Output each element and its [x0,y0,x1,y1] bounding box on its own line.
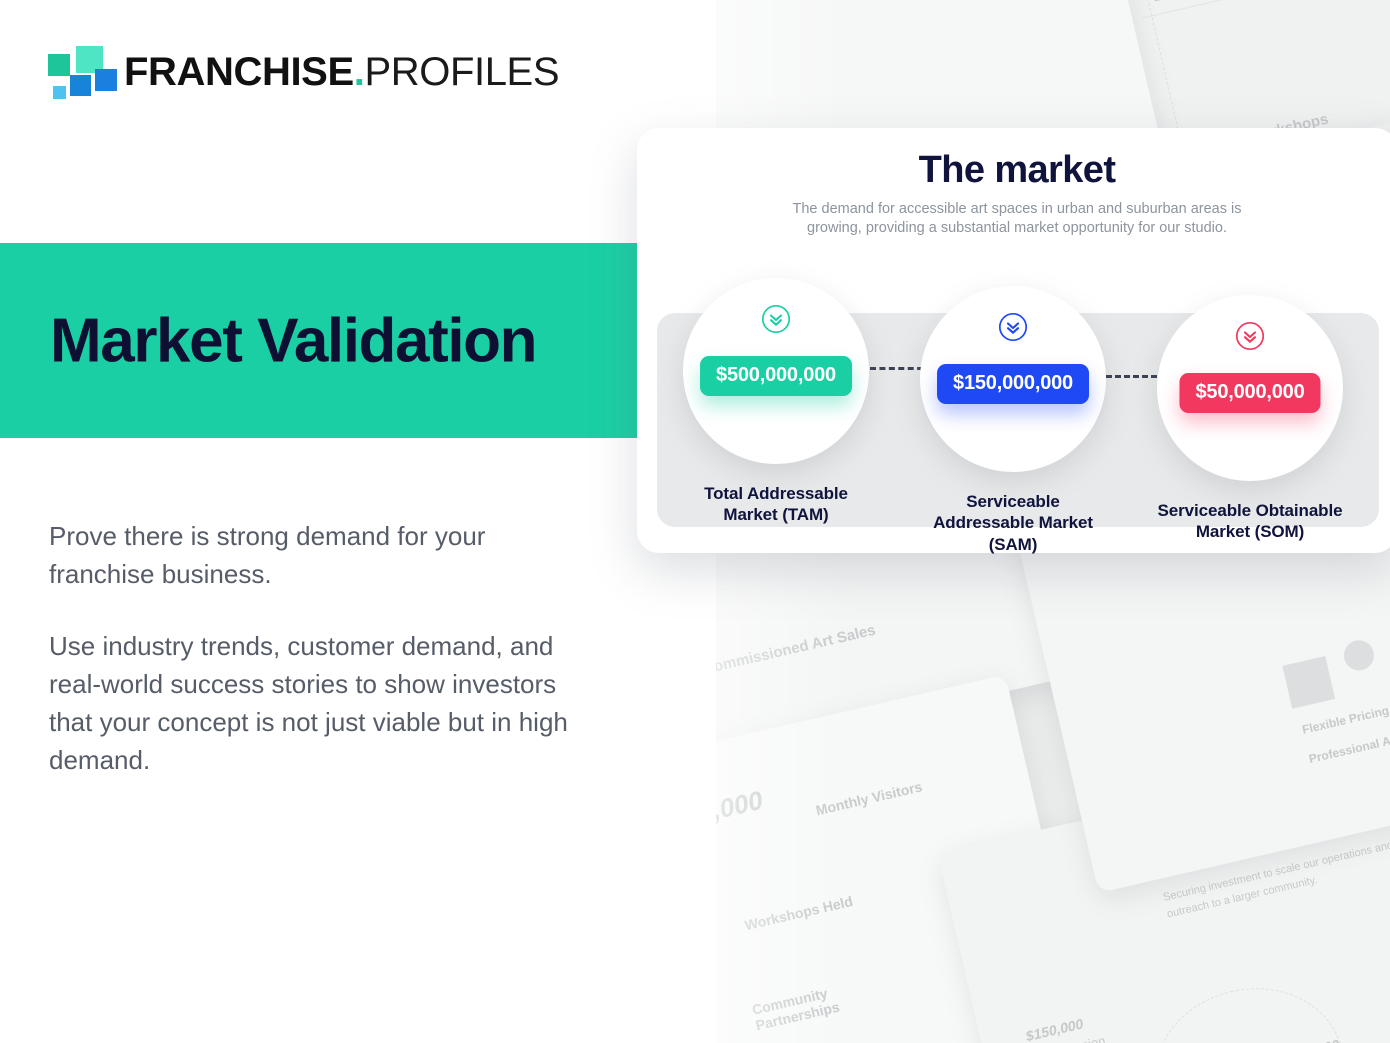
tier-label-tam: Total Addressable Market (TAM) [683,483,869,526]
bg-coin-icon [1341,637,1377,673]
logo-square-5 [53,86,66,99]
logo-square-4 [95,69,117,91]
body-copy: Prove there is strong demand for your fr… [49,518,589,780]
logo-word-bold: FRANCHISE [124,50,354,94]
page-title: Market Validation [50,305,536,376]
bg-revenue2-item-2: Commissioned Art Sales [716,622,877,678]
logo-square-3 [70,75,91,96]
body-paragraph-2: Use industry trends, customer demand, an… [49,628,589,780]
market-card-title: The market [637,149,1390,192]
logo-word-dot: . [354,50,365,94]
market-tier-som[interactable]: $50,000,000 Serviceable Obtainable Marke… [1157,295,1343,543]
logo-wordmark: FRANCHISE.PROFILES [124,52,559,92]
bg-traction-number-0: 1,000 [716,785,766,830]
tier-label-sam: Serviceable Addressable Market (SAM) [920,491,1106,555]
brand-logo[interactable]: FRANCHISE.PROFILES [48,44,559,100]
tier-bubble-tam: $500,000,000 [683,278,869,464]
market-tier-tam[interactable]: $500,000,000 Total Addressable Market (T… [683,278,869,526]
chevron-double-down-icon [998,312,1028,342]
title-band: Market Validation [0,243,637,438]
logo-square-1 [48,54,70,76]
bg-traction-label-2: Community Partnerships [750,975,874,1033]
tier-value-sam: $150,000,000 [937,364,1089,404]
tier-label-som: Serviceable Obtainable Market (SOM) [1157,500,1343,543]
tier-bubble-sam: $150,000,000 [920,286,1106,472]
bg-chart-bar-icon [1282,656,1335,709]
tier-value-som: $50,000,000 [1179,373,1320,413]
logo-mark-icon [48,46,110,98]
tier-bubble-som: $50,000,000 [1157,295,1343,481]
market-tier-sam[interactable]: $150,000,000 Serviceable Addressable Mar… [920,286,1106,555]
tier-value-tam: $500,000,000 [700,356,852,396]
chevron-double-down-icon [1235,321,1265,351]
market-card-subtitle: The demand for accessible art spaces in … [792,200,1242,237]
chevron-double-down-icon [761,304,791,334]
bg-advantage-0: Flexible Pricing [1301,703,1390,737]
bg-traction-label-0: Monthly Visitors [814,778,923,818]
bg-traction-label-1: Workshops Held [743,893,854,933]
body-paragraph-1: Prove there is strong demand for your fr… [49,518,589,594]
slide-canvas: Drop-In Fees Session Workshops Commissio… [0,0,1390,1043]
logo-word-light: PROFILES [364,50,559,94]
